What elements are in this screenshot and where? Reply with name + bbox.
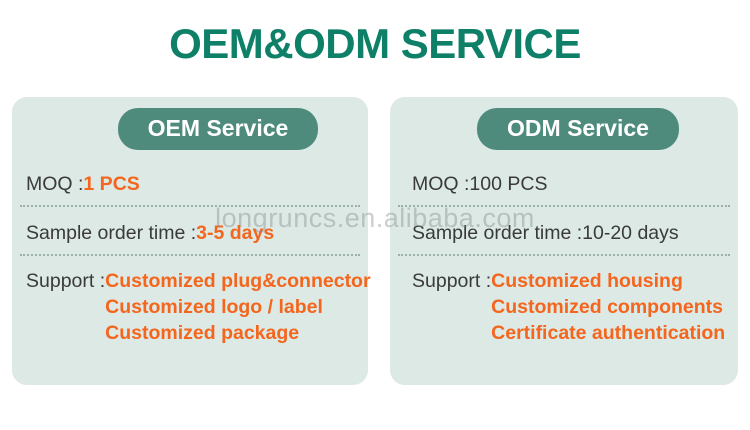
odm-support-items: Customized housing Customized components… xyxy=(491,268,725,346)
panel-odm: ODM Service MOQ :100 PCS Sample order ti… xyxy=(390,97,738,385)
odm-rows: MOQ :100 PCS Sample order time :10-20 da… xyxy=(390,159,738,346)
oem-support-label: Support : xyxy=(26,268,105,294)
oem-rows: MOQ :1 PCS Sample order time :3-5 days S… xyxy=(12,159,368,346)
oem-moq-label: MOQ : xyxy=(26,173,83,195)
badge-odm-service: ODM Service xyxy=(477,108,679,150)
oem-divider-1 xyxy=(20,205,360,207)
odm-sample-line: Sample order time :10-20 days xyxy=(412,220,728,247)
badge-oem-service: OEM Service xyxy=(118,108,319,150)
odm-moq-label: MOQ : xyxy=(412,173,469,195)
oem-row-moq: MOQ :1 PCS xyxy=(12,159,368,205)
oem-row-support: Support : Customized plug&connector Cust… xyxy=(12,256,368,346)
odm-support-item: Certificate authentication xyxy=(491,320,725,346)
odm-row-moq: MOQ :100 PCS xyxy=(390,159,738,205)
oem-sample-label: Sample order time : xyxy=(26,222,196,244)
odm-row-support: Support : Customized housing Customized … xyxy=(390,256,738,346)
odm-divider-1 xyxy=(398,205,730,207)
oem-moq-line: MOQ :1 PCS xyxy=(26,171,358,198)
panel-oem: OEM Service MOQ :1 PCS Sample order time… xyxy=(12,97,368,385)
odm-support-item: Customized housing xyxy=(491,268,725,294)
oem-divider-2 xyxy=(20,254,360,256)
odm-sample-label: Sample order time : xyxy=(412,222,582,244)
service-infographic: OEM&ODM SERVICE OEM Service MOQ :1 PCS S… xyxy=(0,0,750,430)
oem-moq-value: 1 PCS xyxy=(83,173,139,195)
oem-support-items: Customized plug&connector Customized log… xyxy=(105,268,370,346)
oem-sample-line: Sample order time :3-5 days xyxy=(26,220,358,247)
odm-row-sample-order-time: Sample order time :10-20 days xyxy=(390,207,738,254)
odm-support-row: Support : Customized housing Customized … xyxy=(412,268,728,346)
page-title: OEM&ODM SERVICE xyxy=(0,20,750,68)
oem-support-row: Support : Customized plug&connector Cust… xyxy=(26,268,358,346)
oem-support-item: Customized plug&connector xyxy=(105,268,370,294)
odm-support-item: Customized components xyxy=(491,294,725,320)
odm-moq-value: 100 PCS xyxy=(469,173,547,195)
odm-divider-2 xyxy=(398,254,730,256)
oem-row-sample-order-time: Sample order time :3-5 days xyxy=(12,207,368,254)
oem-sample-value: 3-5 days xyxy=(196,222,274,244)
oem-support-item: Customized logo / label xyxy=(105,294,370,320)
odm-moq-line: MOQ :100 PCS xyxy=(412,171,728,198)
odm-support-label: Support : xyxy=(412,268,491,294)
badge-oem-wrapper: OEM Service xyxy=(12,108,396,150)
oem-support-item: Customized package xyxy=(105,320,370,346)
badge-odm-wrapper: ODM Service xyxy=(390,108,750,150)
odm-sample-value: 10-20 days xyxy=(582,222,678,244)
